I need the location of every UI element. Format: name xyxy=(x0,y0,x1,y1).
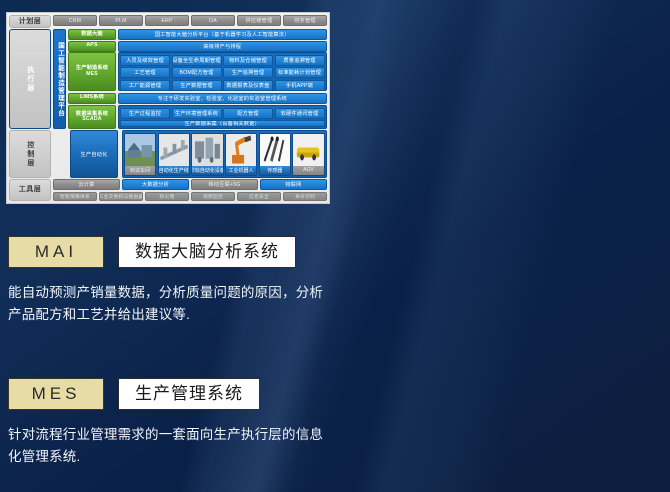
photo-tile-sensor[interactable]: 传感器 xyxy=(259,133,291,176)
info-block-mes: MES 生产管理系统 针对流程行业管理需求的一套面向生产执行层的信息化管理系统. xyxy=(8,378,328,468)
agv-icon xyxy=(293,134,323,166)
mes-item[interactable]: 工艺管理 xyxy=(120,67,170,78)
exec-bar-brain[interactable]: 国工智能大脑分析平台（基于机器学习及人工智能算法） xyxy=(118,29,328,40)
mes-item[interactable]: 物料及仓储管理 xyxy=(223,55,273,66)
photo-tile-custom-equipment[interactable]: 非标自动化设备 xyxy=(191,133,223,176)
tool-sub-item[interactable]: 视频监控 xyxy=(191,192,235,201)
scada-item[interactable]: 配方管理 xyxy=(223,108,273,119)
control-tag-wrap: 生产自动化 xyxy=(70,130,118,178)
tool-sub-item[interactable]: 防火墙 xyxy=(145,192,189,201)
mes-description: 针对流程行业管理需求的一套面向生产执行层的信息化管理系统. xyxy=(8,424,328,468)
layer-label-execution: 执行层 xyxy=(9,29,51,129)
left-column: 计划层 CRM PLM ERP OA 供应链管理 财务管理 执行层 国工智能制造… xyxy=(0,0,335,492)
photo-caption: 传感器 xyxy=(260,166,290,175)
scada-block: 数据采集系统 SCADA 生产过程监控 生产环境管理系统 配方管理 软硬件通讯管… xyxy=(68,105,327,129)
mes-item[interactable]: BOM配方管理 xyxy=(172,67,222,78)
control-tag[interactable]: 生产自动化 xyxy=(70,130,118,178)
factory-photo xyxy=(125,134,155,166)
tool-item-bigdata[interactable]: 大数据分析 xyxy=(122,179,189,190)
execution-content: 数据大脑 国工智能大脑分析平台（基于机器学习及人工智能算法） APS 高级排产与… xyxy=(68,29,327,129)
scada-item[interactable]: 生产过程监控 xyxy=(120,108,170,119)
mes-item-grid: 人员及绩效管理 设备全生命周期管理 物料及仓储管理 质量追溯管理 工艺管理 BO… xyxy=(120,55,325,91)
mes-tag-badge: MES xyxy=(8,378,104,410)
scada-item[interactable]: 生产环境管理系统 xyxy=(172,108,222,119)
info-block-mai: MAI 数据大脑分析系统 能自动预测产销量数据，分析质量问题的原因，分析产品配方… xyxy=(8,236,328,326)
agv-photo xyxy=(293,134,323,166)
right-column: SCADA 数据采集系统 打通生产现场过程控制层与企业运营管理层间的联系，打造生… xyxy=(335,0,670,492)
platform-bar-label: 国工智能制造管理平台 xyxy=(53,29,66,129)
sensor-photo xyxy=(260,134,290,166)
mes-tag-wrap: 生产制造系统 MES xyxy=(68,52,116,91)
mes-title: 生产管理系统 xyxy=(118,378,260,410)
plan-item-finance[interactable]: 财务管理 xyxy=(283,15,327,26)
architecture-diagram: 计划层 CRM PLM ERP OA 供应链管理 财务管理 执行层 国工智能制造… xyxy=(6,12,330,204)
mes-tag[interactable]: 生产制造系统 MES xyxy=(68,52,116,91)
lims-bar[interactable]: 专注于研发实验室、检验室、化验室的实验室管理系统 xyxy=(118,93,328,104)
mes-item[interactable]: 手机APP端 xyxy=(275,80,325,91)
mai-title: 数据大脑分析系统 xyxy=(118,236,296,268)
photo-tile-production-line[interactable]: 自动化生产线 xyxy=(158,133,190,176)
exec-bar-aps[interactable]: 高级排产与排程 xyxy=(118,41,328,52)
plan-item-oa[interactable]: OA xyxy=(191,15,235,26)
industrial-robot-photo xyxy=(226,134,256,166)
tool-sub-item[interactable]: 智能保障体系 xyxy=(53,192,97,201)
mai-badge-row: MAI 数据大脑分析系统 xyxy=(8,236,328,268)
photo-caption: 制造车间 xyxy=(125,166,155,175)
scada-item-grid: 生产过程监控 生产环境管理系统 配方管理 软硬件通讯管理 xyxy=(120,108,325,119)
layer-label-planning: 计划层 xyxy=(9,15,51,28)
control-layer-row: 控制层 生产自动化 xyxy=(9,130,327,178)
tool-layer-row: 工具层 云计算 大数据分析 移动互联+5G 物联网 智能保障体系 工业交换机与路… xyxy=(9,179,327,201)
lims-block: LIMS系统 专注于研发实验室、检验室、化验室的实验室管理系统 xyxy=(68,93,327,104)
mes-item[interactable]: 生产追溯管理 xyxy=(223,67,273,78)
machine-icon xyxy=(192,134,222,166)
tool-content: 云计算 大数据分析 移动互联+5G 物联网 智能保障体系 工业交换机与路由器 防… xyxy=(53,179,327,201)
planning-items: CRM PLM ERP OA 供应链管理 财务管理 xyxy=(53,15,327,28)
mes-item[interactable]: 质量追溯管理 xyxy=(275,55,325,66)
tool-main-row: 云计算 大数据分析 移动互联+5G 物联网 xyxy=(53,179,327,190)
control-tiles-panel: 制造车间 xyxy=(122,130,328,178)
custom-equipment-photo xyxy=(192,134,222,166)
mes-badge-row: MES 生产管理系统 xyxy=(8,378,328,410)
scada-bar[interactable]: 生产数据采集（设备相关数据） xyxy=(120,120,325,127)
mai-description: 能自动预测产销量数据，分析质量问题的原因，分析产品配方和工艺并给出建议等. xyxy=(8,282,328,326)
scada-item[interactable]: 软硬件通讯管理 xyxy=(275,108,325,119)
plan-item-erp[interactable]: ERP xyxy=(145,15,189,26)
photo-tile-industrial-robot[interactable]: 工业机器人 xyxy=(225,133,257,176)
scada-tag[interactable]: 数据采集系统 SCADA xyxy=(68,105,116,129)
robot-arm-icon xyxy=(226,134,256,166)
mes-item[interactable]: 标准能耗计划管理 xyxy=(275,67,325,78)
photo-caption: 自动化生产线 xyxy=(159,166,189,175)
mes-item[interactable]: 设备全生命周期管理 xyxy=(172,55,222,66)
exec-tag-brain[interactable]: 数据大脑 xyxy=(68,29,116,40)
tool-item-iot[interactable]: 物联网 xyxy=(260,179,327,190)
photo-caption: AGV xyxy=(293,166,323,175)
mes-tag-line2: MES xyxy=(86,72,98,77)
tool-sub-item[interactable]: 身份识别 xyxy=(283,192,327,201)
scada-tag-wrap: 数据采集系统 SCADA xyxy=(68,105,116,129)
layer-label-tool: 工具层 xyxy=(9,179,51,201)
mes-items-panel: 人员及绩效管理 设备全生命周期管理 物料及仓储管理 质量追溯管理 工艺管理 BO… xyxy=(118,52,328,91)
plan-item-scm[interactable]: 供应链管理 xyxy=(237,15,281,26)
exec-row-aps: APS 高级排产与排程 xyxy=(68,41,327,51)
exec-row-brain: 数据大脑 国工智能大脑分析平台（基于机器学习及人工智能算法） xyxy=(68,29,327,39)
scada-tag-line2: SCADA xyxy=(82,117,101,122)
production-line-photo xyxy=(159,134,189,166)
photo-caption: 工业机器人 xyxy=(226,166,256,175)
mai-tag: MAI xyxy=(8,236,104,268)
mes-item[interactable]: 人员及绩效管理 xyxy=(120,55,170,66)
layer-label-control: 控制层 xyxy=(9,130,51,178)
photo-tile-agv[interactable]: AGV xyxy=(292,133,324,176)
tool-item-cloud[interactable]: 云计算 xyxy=(53,179,120,190)
control-photo-strip: 制造车间 xyxy=(124,133,325,176)
tool-sub-item[interactable]: 信息安全 xyxy=(237,192,281,201)
tool-sub-row: 智能保障体系 工业交换机与路由器 防火墙 视频监控 信息安全 身份识别 xyxy=(53,192,327,202)
plan-item-plm[interactable]: PLM xyxy=(99,15,143,26)
tool-item-mobile[interactable]: 移动互联+5G xyxy=(191,179,258,190)
plan-item-crm[interactable]: CRM xyxy=(53,15,97,26)
mes-item[interactable]: 数据报表及仪表盘 xyxy=(223,80,273,91)
sensor-icon xyxy=(260,134,290,166)
mes-item[interactable]: 工厂能源管理 xyxy=(120,80,170,91)
tool-sub-item[interactable]: 工业交换机与路由器 xyxy=(99,192,143,201)
factory-icon xyxy=(125,134,155,166)
photo-tile-factory[interactable]: 制造车间 xyxy=(124,133,156,176)
photo-caption: 非标自动化设备 xyxy=(192,166,222,175)
conveyor-icon xyxy=(159,134,189,166)
scada-items-panel: 生产过程监控 生产环境管理系统 配方管理 软硬件通讯管理 生产数据采集（设备相关… xyxy=(118,105,328,129)
mes-block: 生产制造系统 MES 人员及绩效管理 设备全生命周期管理 物料及仓储管理 质量追… xyxy=(68,52,327,91)
slide-root: 计划层 CRM PLM ERP OA 供应链管理 财务管理 执行层 国工智能制造… xyxy=(0,0,670,492)
mes-item[interactable]: 生产数据管理 xyxy=(172,80,222,91)
planning-layer-row: 计划层 CRM PLM ERP OA 供应链管理 财务管理 xyxy=(9,15,327,28)
execution-layer-row: 执行层 国工智能制造管理平台 数据大脑 国工智能大脑分析平台（基于机器学习及人工… xyxy=(9,29,327,129)
exec-tag-aps[interactable]: APS xyxy=(68,41,116,52)
lims-tag[interactable]: LIMS系统 xyxy=(68,93,116,104)
